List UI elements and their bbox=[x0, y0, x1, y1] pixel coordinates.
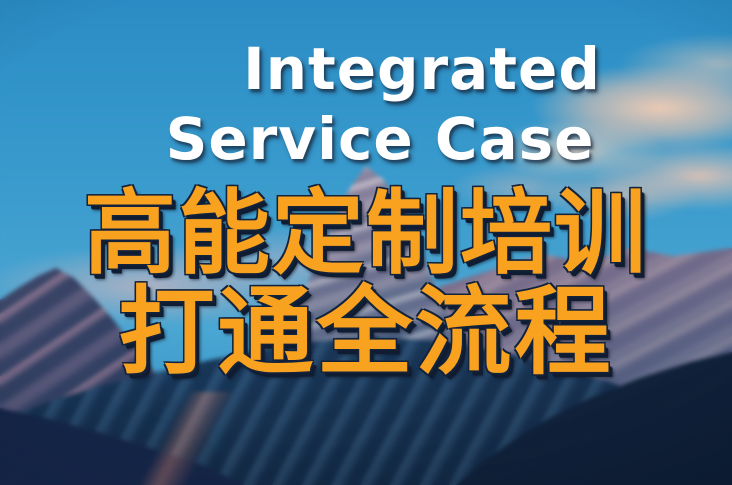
banner-image: Integrated Service Case 高能定制培训 打通全流程 bbox=[0, 0, 732, 485]
headline-chinese-line-2: 打通全流程 bbox=[0, 282, 732, 382]
headline-text-block: Integrated Service Case 高能定制培训 打通全流程 bbox=[0, 0, 732, 485]
headline-english-line-1: Integrated bbox=[56, 38, 732, 100]
headline-chinese-line-1: 高能定制培训 bbox=[0, 186, 732, 282]
headline-english-line-2: Service Case bbox=[14, 108, 732, 170]
